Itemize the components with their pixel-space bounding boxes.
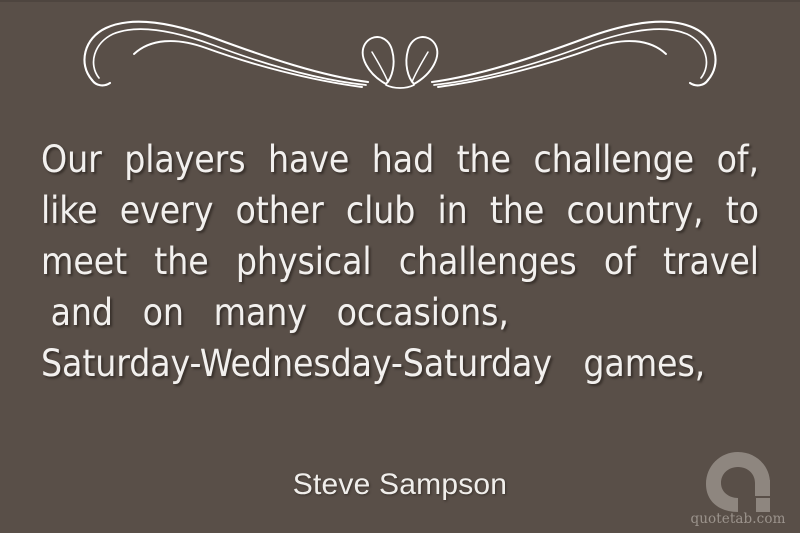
quote-word: the bbox=[490, 185, 544, 236]
quote-word: to bbox=[726, 185, 759, 236]
quote-word: every bbox=[120, 185, 214, 236]
quote-word: and bbox=[51, 291, 113, 334]
quote-word: have bbox=[268, 134, 349, 185]
quote-word: many bbox=[214, 291, 307, 334]
quotetab-logo-icon[interactable] bbox=[690, 450, 786, 512]
quote-word: of, bbox=[717, 134, 759, 185]
quote-word: club bbox=[346, 185, 415, 236]
quote-word: like bbox=[41, 185, 98, 236]
quote-word: other bbox=[236, 185, 324, 236]
quote-word: in bbox=[438, 185, 468, 236]
quote-line: Saturday-Wednesday-Saturday games, bbox=[41, 338, 759, 389]
quote-author: Steve Sampson bbox=[0, 468, 800, 502]
watermark-label: quotetab.com bbox=[690, 511, 786, 527]
quote-word: occasions, bbox=[337, 291, 509, 334]
quote-line: Our players have had the challenge of, bbox=[41, 134, 759, 185]
quote-card: Our players have had the challenge of, l… bbox=[0, 0, 800, 533]
quote-word: of bbox=[604, 236, 636, 287]
quote-word: travel bbox=[663, 236, 759, 287]
quote-line: and on many occasions, bbox=[41, 287, 759, 338]
quote-word: on bbox=[143, 291, 184, 334]
quote-word: players bbox=[124, 134, 245, 185]
quote-word: Saturday-Wednesday-Saturday bbox=[41, 342, 552, 385]
quote-word: the bbox=[154, 236, 208, 287]
quote-text: Our players have had the challenge of, l… bbox=[41, 134, 759, 389]
quote-word: Our bbox=[41, 134, 102, 185]
quote-word: country, bbox=[566, 185, 703, 236]
quote-line: meet the physical challenges of travel bbox=[41, 236, 759, 287]
quote-word: games, bbox=[583, 342, 705, 385]
watermark[interactable]: quotetab.com bbox=[690, 450, 786, 527]
quote-word: had bbox=[372, 134, 434, 185]
quote-word: meet bbox=[41, 236, 127, 287]
quote-line: like every other club in the country, to bbox=[41, 185, 759, 236]
quote-word: physical bbox=[236, 236, 372, 287]
flourish-ornament-icon bbox=[0, 8, 800, 104]
quote-word: challenge bbox=[533, 134, 694, 185]
quote-word: the bbox=[457, 134, 511, 185]
quote-word: challenges bbox=[399, 236, 577, 287]
